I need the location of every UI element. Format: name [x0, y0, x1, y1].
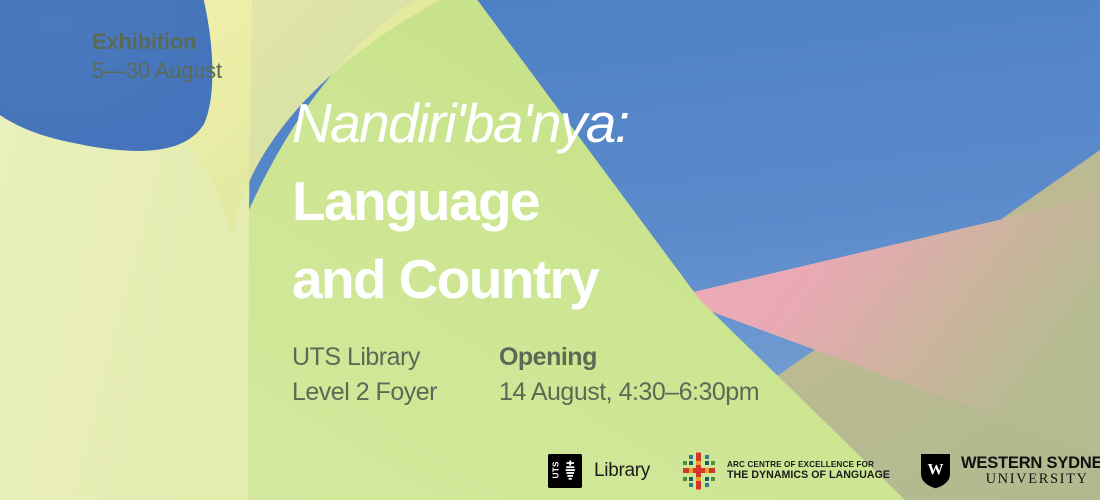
coedl-logo: ARC CENTRE OF EXCELLENCE FOR THE DYNAMIC…	[680, 452, 890, 490]
venue-column: UTS Library Level 2 Foyer	[292, 340, 437, 409]
exhibition-banner: Exhibition 5—30 August Nandiri'ba'nya: L…	[0, 0, 1100, 500]
uts-logo-icon: UTS	[548, 454, 582, 488]
coedl-wordmark: ARC CENTRE OF EXCELLENCE FOR THE DYNAMIC…	[727, 460, 890, 481]
svg-text:W: W	[928, 462, 944, 479]
coedl-weave-icon	[680, 452, 718, 490]
svg-text:UTS: UTS	[552, 461, 561, 479]
coedl-line-2: THE DYNAMICS OF LANGUAGE	[727, 470, 890, 482]
uts-library-logo: UTS Library	[548, 454, 650, 488]
details-block: UTS Library Level 2 Foyer Opening 14 Aug…	[292, 340, 759, 409]
opening-datetime: 14 August, 4:30–6:30pm	[499, 375, 759, 410]
exhibition-dates: 5—30 August	[92, 57, 222, 86]
opening-column: Opening 14 August, 4:30–6:30pm	[499, 340, 759, 409]
exhibition-kicker: Exhibition	[92, 28, 222, 57]
venue-location: Level 2 Foyer	[292, 375, 437, 410]
opening-heading: Opening	[499, 340, 759, 375]
wsu-line-2: UNIVERSITY	[961, 472, 1100, 487]
eyebrow-block: Exhibition 5—30 August	[92, 28, 222, 85]
wsu-logo: W WESTERN SYDNEY UNIVERSITY	[920, 453, 1100, 489]
uts-library-wordmark: Library	[594, 460, 650, 482]
wsu-wordmark: WESTERN SYDNEY UNIVERSITY	[961, 455, 1100, 487]
logo-strip: UTS Library	[548, 452, 1100, 490]
title-line-language: Language	[292, 162, 628, 240]
page-title: Nandiri'ba'nya: Language and Country	[292, 84, 628, 318]
venue-name: UTS Library	[292, 340, 437, 375]
title-line-and-country: and Country	[292, 240, 628, 318]
wsu-line-1: WESTERN SYDNEY	[961, 455, 1100, 472]
title-line-language-name: Nandiri'ba'nya:	[292, 84, 628, 162]
wsu-shield-icon: W	[920, 453, 951, 489]
